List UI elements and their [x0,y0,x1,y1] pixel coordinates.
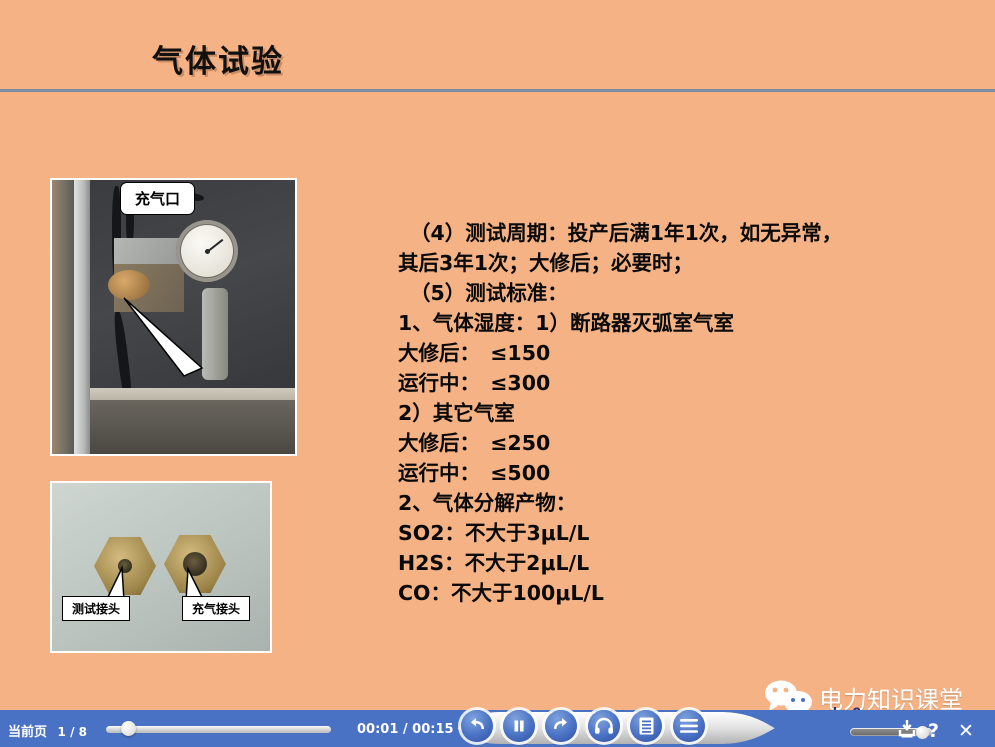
callout-leaders-bottom [52,483,272,653]
gas-filling-port-photo [50,178,297,456]
body-line: 1、气体湿度：1）断路器灭弧室气室 [398,308,958,338]
slide-canvas: 气体试验 充气口 [0,0,995,710]
body-line: 2）其它气室 [398,398,958,428]
forward-button[interactable] [545,710,577,742]
callout-test-connector: 测试接头 [62,596,130,621]
pause-icon [511,718,527,734]
volume-slider[interactable] [850,726,932,736]
body-line: H2S：不大于2μL/L [398,548,958,578]
seek-track[interactable] [106,726,331,733]
page-title: 气体试验 [152,36,284,81]
body-line: （4）测试周期：投产后满1年1次，如无异常， [398,218,958,248]
callout-leader-top [52,180,297,456]
back-arrow-icon [467,716,487,736]
slide-title-bar: 气体试验 [0,0,995,90]
rewind-button[interactable] [461,710,493,742]
body-line: 运行中： ≤300 [398,368,958,398]
seek-knob[interactable] [121,721,136,736]
body-line: SO2：不大于3μL/L [398,518,958,548]
title-divider [0,89,995,92]
wechat-icon [763,680,815,714]
close-button[interactable]: ✕ [958,720,974,742]
pause-button[interactable] [503,710,535,742]
headphones-icon [594,717,614,735]
notes-button[interactable] [630,710,662,742]
callout-gas-filling-port: 充气口 [120,182,195,215]
forward-arrow-icon [551,716,571,736]
time-display: 00:01 / 00:15 [357,722,454,737]
download-button[interactable] [897,719,917,742]
body-line: （5）测试标准： [398,278,958,308]
page-indicator: 当前页 1 / 8 [8,721,87,740]
body-line: 大修后： ≤150 [398,338,958,368]
body-line: 运行中： ≤500 [398,458,958,488]
audio-button[interactable] [588,710,620,742]
document-icon [639,717,654,735]
slide-body-text: （4）测试周期：投产后满1年1次，如无异常， 其后3年1次；大修后；必要时； （… [398,218,958,608]
help-button[interactable]: ? [928,720,939,742]
body-line: 2、气体分解产物： [398,488,958,518]
seek-slider[interactable] [106,723,331,733]
body-line: CO：不大于100μL/L [398,578,958,608]
body-line: 大修后： ≤250 [398,428,958,458]
connectors-photo: 测试接头 充气接头 [50,481,272,653]
list-menu-icon [680,718,698,734]
page-indicator-label: 当前页 [8,725,47,740]
page-indicator-value: 1 / 8 [58,725,87,739]
download-icon [897,719,917,738]
callout-filling-connector: 充气接头 [182,596,250,621]
body-line: 其后3年1次；大修后；必要时； [398,248,958,278]
playlist-button[interactable] [673,710,705,742]
